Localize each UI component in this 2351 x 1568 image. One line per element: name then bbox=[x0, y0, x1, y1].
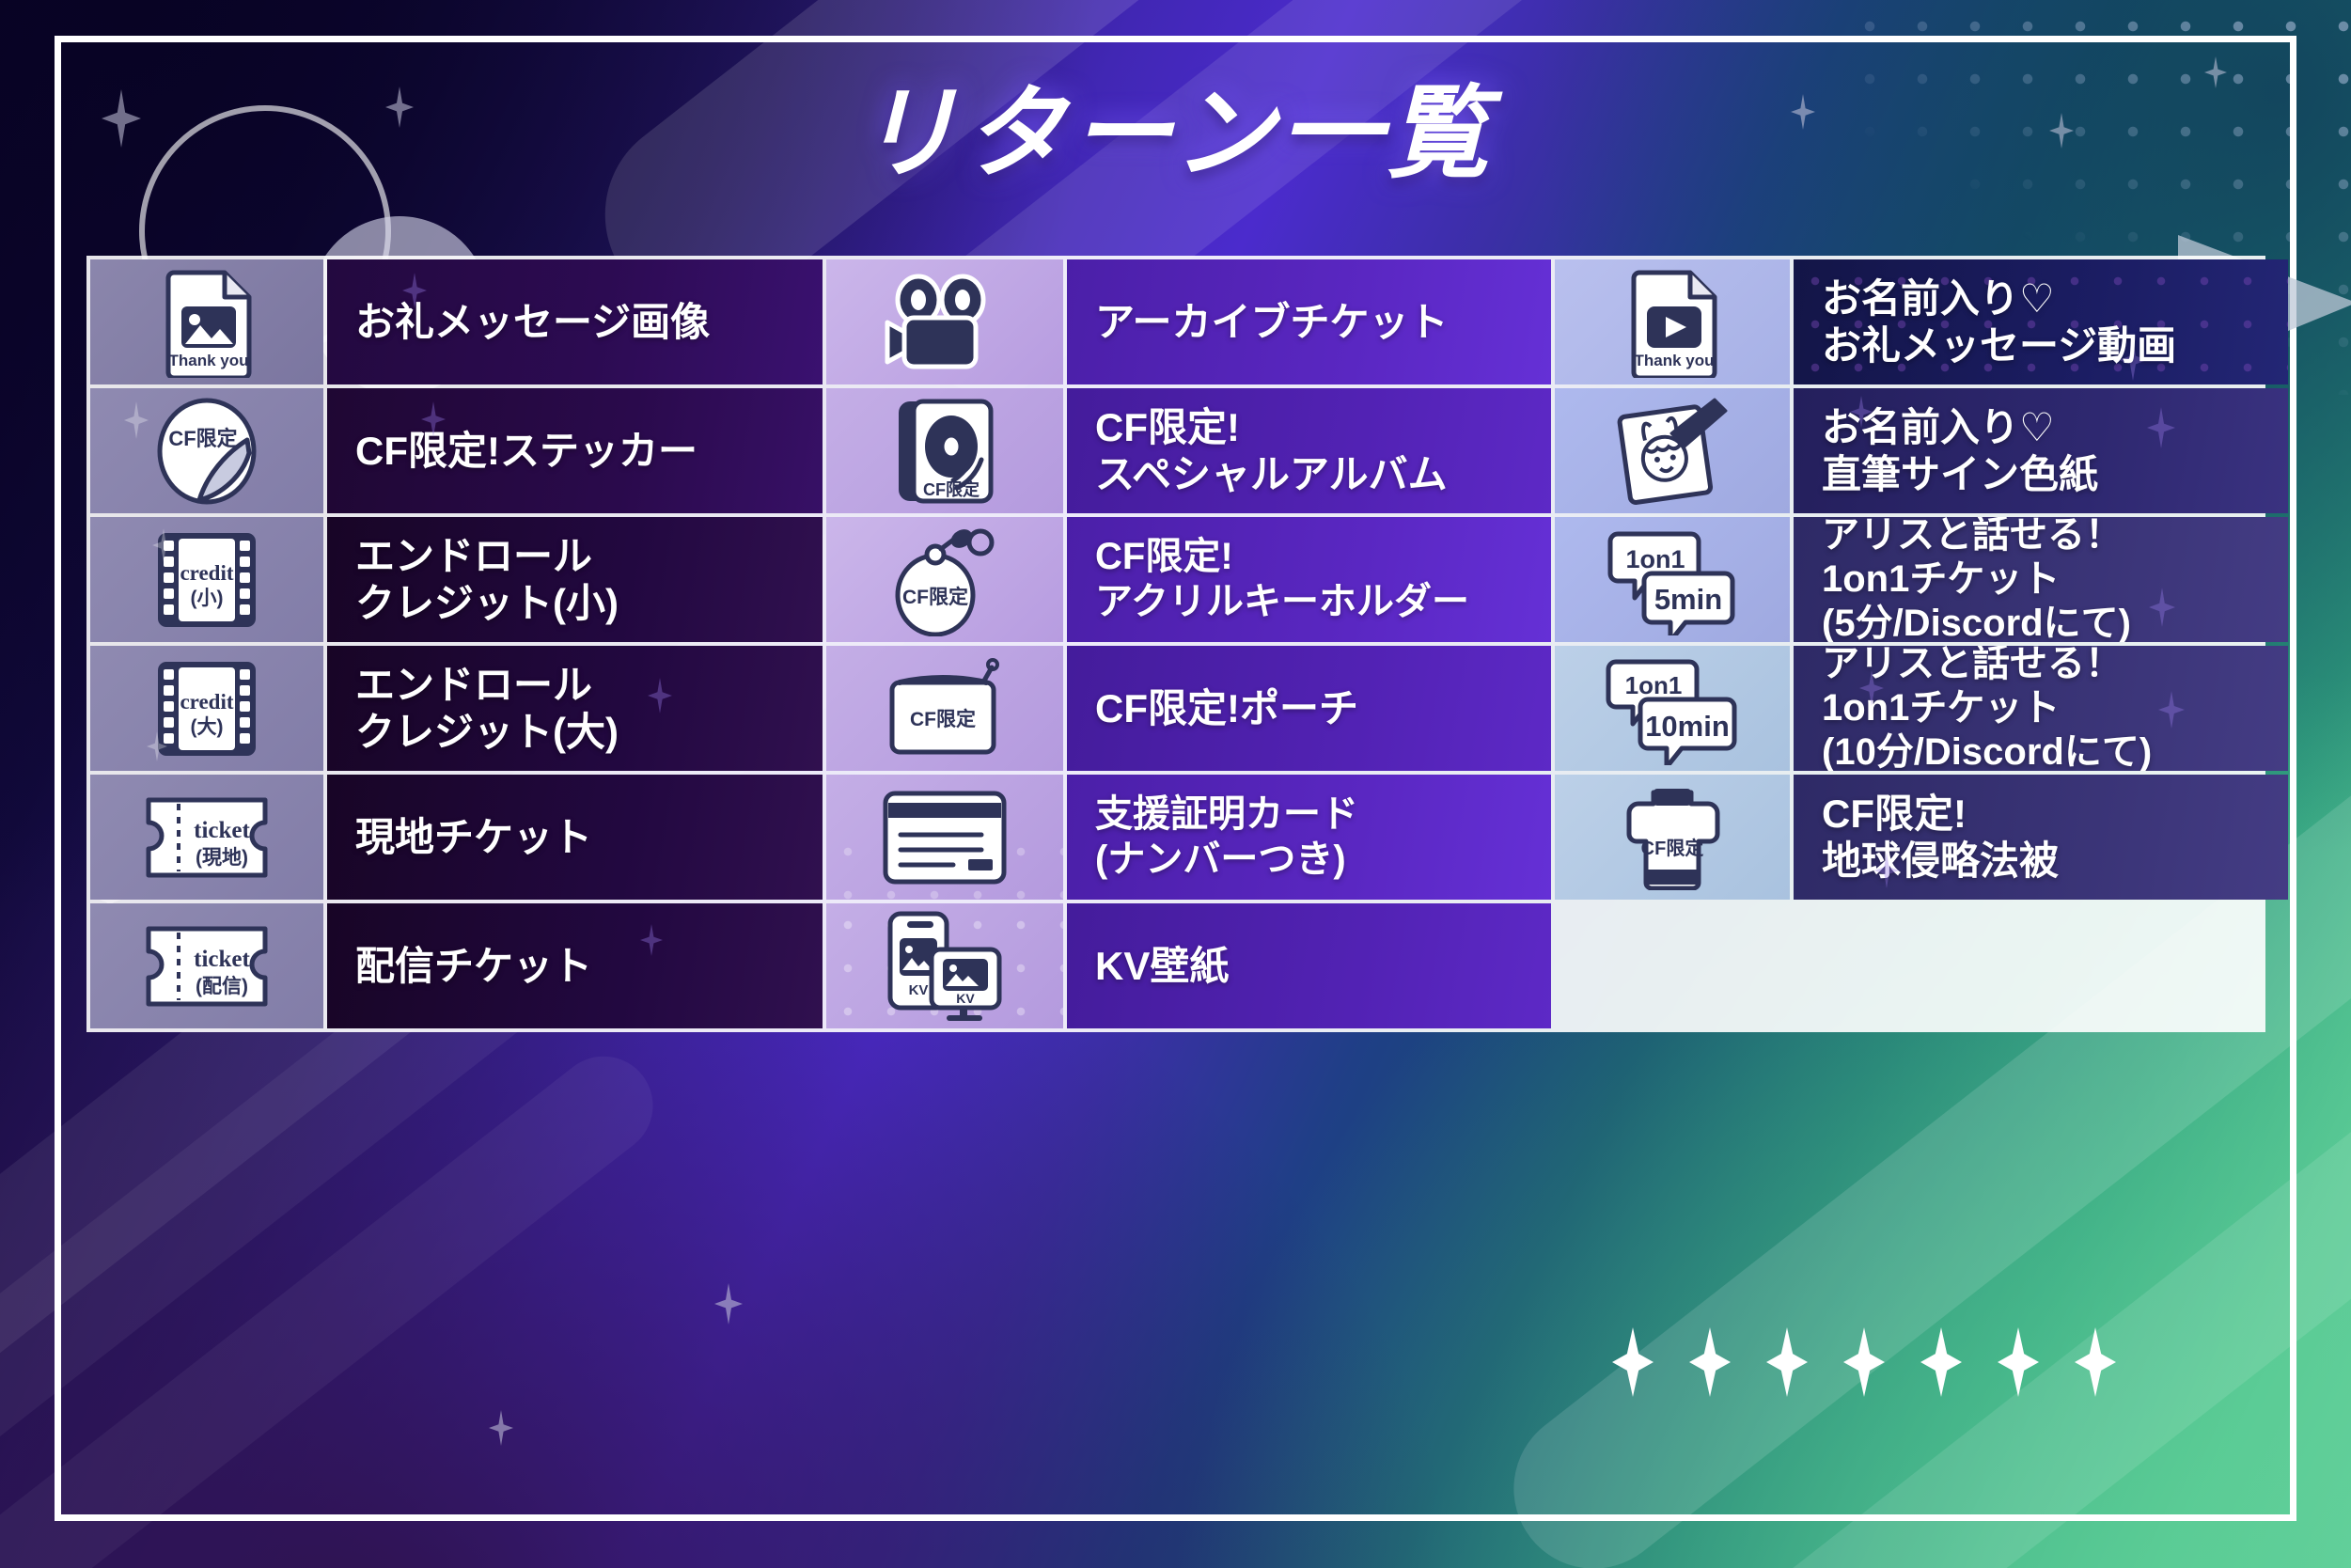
sparkle-icon bbox=[648, 678, 672, 713]
support-card-icon bbox=[880, 788, 1010, 887]
return-label: KV壁紙 bbox=[1095, 943, 1229, 990]
svg-text:1on1: 1on1 bbox=[1625, 545, 1685, 573]
table-cell-icon bbox=[826, 259, 1063, 384]
diamond-sparkle-icon bbox=[1998, 1327, 2039, 1397]
table-cell-icon: CF限定 bbox=[826, 517, 1063, 642]
table-cell-label: CF限定!ポーチ bbox=[1067, 646, 1551, 771]
diamond-decoration-row bbox=[1612, 1327, 2116, 1397]
return-label: CF限定! スペシャルアルバム bbox=[1095, 404, 1448, 497]
album-disc-icon: CF限定 bbox=[893, 396, 996, 507]
pouch-icon: CF限定 bbox=[886, 658, 1003, 760]
returns-table: Thank you お礼メッセージ画像 アーカイブチケット Thank you bbox=[86, 256, 2265, 1032]
table-cell-label: KV壁紙 bbox=[1067, 903, 1551, 1028]
return-label: アリスと話せる！ 1on1チケット (10分/Discordにて) bbox=[1822, 646, 2152, 771]
diamond-sparkle-icon bbox=[1843, 1327, 1885, 1397]
diamond-sparkle-icon bbox=[1920, 1327, 1962, 1397]
table-cell-icon: CF限定 bbox=[90, 388, 323, 513]
table-cell-label: エンドロール クレジット(小) bbox=[327, 517, 823, 642]
svg-text:ticket: ticket bbox=[194, 818, 250, 843]
film-credit-small-icon: credit (小) bbox=[150, 525, 263, 635]
chat-bubble-5min-icon: 1on1 5min bbox=[1607, 525, 1738, 635]
svg-text:(配信): (配信) bbox=[196, 975, 248, 997]
return-label: CF限定!ポーチ bbox=[1095, 685, 1358, 732]
svg-text:CF限定: CF限定 bbox=[902, 586, 968, 608]
table-cell-label: CF限定! アクリルキーホルダー bbox=[1067, 517, 1551, 642]
svg-text:CF限定: CF限定 bbox=[910, 708, 976, 730]
table-cell-label: CF限定! 地球侵略法被 bbox=[1794, 775, 2288, 900]
return-label: CF限定! 地球侵略法被 bbox=[1822, 791, 2059, 884]
svg-text:5min: 5min bbox=[1654, 583, 1722, 616]
ticket-stream-icon: ticket (配信) bbox=[139, 923, 274, 1010]
return-label: 配信チケット bbox=[355, 943, 592, 990]
return-label: CF限定!ステッカー bbox=[355, 428, 697, 475]
svg-text:credit: credit bbox=[180, 561, 233, 585]
chat-bubble-10min-icon: 1on1 10min bbox=[1605, 652, 1740, 765]
svg-text:(大): (大) bbox=[191, 716, 224, 738]
return-label: お礼メッセージ画像 bbox=[355, 299, 710, 346]
table-cell-icon bbox=[1555, 388, 1790, 513]
table-cell-label: CF限定!ステッカー bbox=[327, 388, 823, 513]
ticket-onsite-icon: ticket (現地) bbox=[139, 794, 274, 881]
svg-text:Thank you: Thank you bbox=[168, 352, 248, 369]
svg-text:Thank you: Thank you bbox=[1634, 352, 1714, 369]
table-cell-label: アーカイブチケット bbox=[1067, 259, 1551, 384]
return-label: エンドロール クレジット(小) bbox=[355, 533, 619, 626]
table-cell-label: 配信チケット bbox=[327, 903, 823, 1028]
table-cell-icon: CF限定 bbox=[826, 388, 1063, 513]
sparkle-icon bbox=[2158, 691, 2185, 729]
return-label: 支援証明カード (ナンバーつき) bbox=[1095, 792, 1358, 881]
table-cell-icon: CF限定 bbox=[1555, 775, 1790, 900]
table-cell-icon: 1on1 10min bbox=[1555, 646, 1790, 771]
return-label: お名前入り♡ お礼メッセージ動画 bbox=[1822, 275, 2176, 368]
acrylic-keyholder-icon: CF限定 bbox=[886, 524, 1003, 636]
thank-you-video-file-icon: Thank you bbox=[1611, 267, 1733, 378]
return-label: アーカイブチケット bbox=[1095, 299, 1448, 346]
diamond-sparkle-icon bbox=[2075, 1327, 2116, 1397]
svg-text:credit: credit bbox=[180, 690, 233, 713]
signature-board-icon bbox=[1613, 396, 1732, 507]
return-label: お名前入り♡ 直筆サイン色紙 bbox=[1822, 404, 2098, 497]
svg-text:CF限定: CF限定 bbox=[923, 479, 980, 499]
svg-text:KV: KV bbox=[909, 982, 929, 998]
sparkle-icon bbox=[2149, 588, 2175, 627]
sparkle-icon bbox=[2147, 407, 2175, 448]
happi-coat-icon: CF限定 bbox=[1616, 785, 1729, 890]
film-credit-large-icon: credit (大) bbox=[150, 654, 263, 763]
table-cell-icon: Thank you bbox=[1555, 259, 1790, 384]
kv-wallpaper-icon: KV KV bbox=[879, 910, 1011, 1023]
diamond-sparkle-icon bbox=[1766, 1327, 1808, 1397]
return-label: エンドロール クレジット(大) bbox=[355, 662, 619, 755]
thank-you-image-file-icon: Thank you bbox=[146, 267, 268, 378]
return-label: CF限定! アクリルキーホルダー bbox=[1095, 535, 1469, 623]
sparkle-icon bbox=[124, 401, 149, 439]
table-cell-empty bbox=[1555, 903, 2288, 1028]
diamond-sparkle-icon bbox=[1612, 1327, 1654, 1397]
svg-text:CF限定: CF限定 bbox=[1641, 837, 1704, 859]
svg-text:1on1: 1on1 bbox=[1625, 671, 1683, 699]
table-cell-icon: ticket (現地) bbox=[90, 775, 323, 900]
svg-text:CF限定: CF限定 bbox=[168, 427, 237, 450]
table-cell-label: お名前入り♡ お礼メッセージ動画 bbox=[1794, 259, 2288, 384]
sparkle-icon bbox=[640, 924, 663, 956]
table-cell-icon: credit (大) bbox=[90, 646, 323, 771]
sticker-icon: CF限定 bbox=[152, 397, 261, 506]
table-cell-label: CF限定! スペシャルアルバム bbox=[1067, 388, 1551, 513]
table-cell-label: お礼メッセージ画像 bbox=[327, 259, 823, 384]
table-cell-icon: 1on1 5min bbox=[1555, 517, 1790, 642]
svg-text:10min: 10min bbox=[1645, 710, 1730, 743]
svg-text:KV: KV bbox=[956, 991, 975, 1006]
table-cell-icon: credit (小) bbox=[90, 517, 323, 642]
diamond-sparkle-icon bbox=[1689, 1327, 1731, 1397]
table-cell-icon: KV KV bbox=[826, 903, 1063, 1028]
table-cell-icon: ticket (配信) bbox=[90, 903, 323, 1028]
table-cell-icon: Thank you bbox=[90, 259, 323, 384]
table-cell-label: お名前入り♡ 直筆サイン色紙 bbox=[1794, 388, 2288, 513]
return-label: アリスと話せる！ 1on1チケット (5分/Discordにて) bbox=[1822, 517, 2131, 642]
svg-text:ticket: ticket bbox=[194, 947, 250, 972]
svg-text:(小): (小) bbox=[191, 588, 224, 609]
table-cell-label: 現地チケット bbox=[327, 775, 823, 900]
table-cell-label: 支援証明カード (ナンバーつき) bbox=[1067, 775, 1551, 900]
return-label: 現地チケット bbox=[355, 814, 592, 861]
table-cell-icon bbox=[826, 775, 1063, 900]
movie-camera-icon bbox=[885, 274, 1005, 371]
table-cell-label: エンドロール クレジット(大) bbox=[327, 646, 823, 771]
table-cell-label: アリスと話せる！ 1on1チケット (5分/Discordにて) bbox=[1794, 517, 2288, 642]
svg-text:(現地): (現地) bbox=[196, 846, 248, 869]
page-title: リターン一覧 bbox=[0, 52, 2351, 198]
table-cell-icon: CF限定 bbox=[826, 646, 1063, 771]
table-cell-label: アリスと話せる！ 1on1チケット (10分/Discordにて) bbox=[1794, 646, 2288, 771]
